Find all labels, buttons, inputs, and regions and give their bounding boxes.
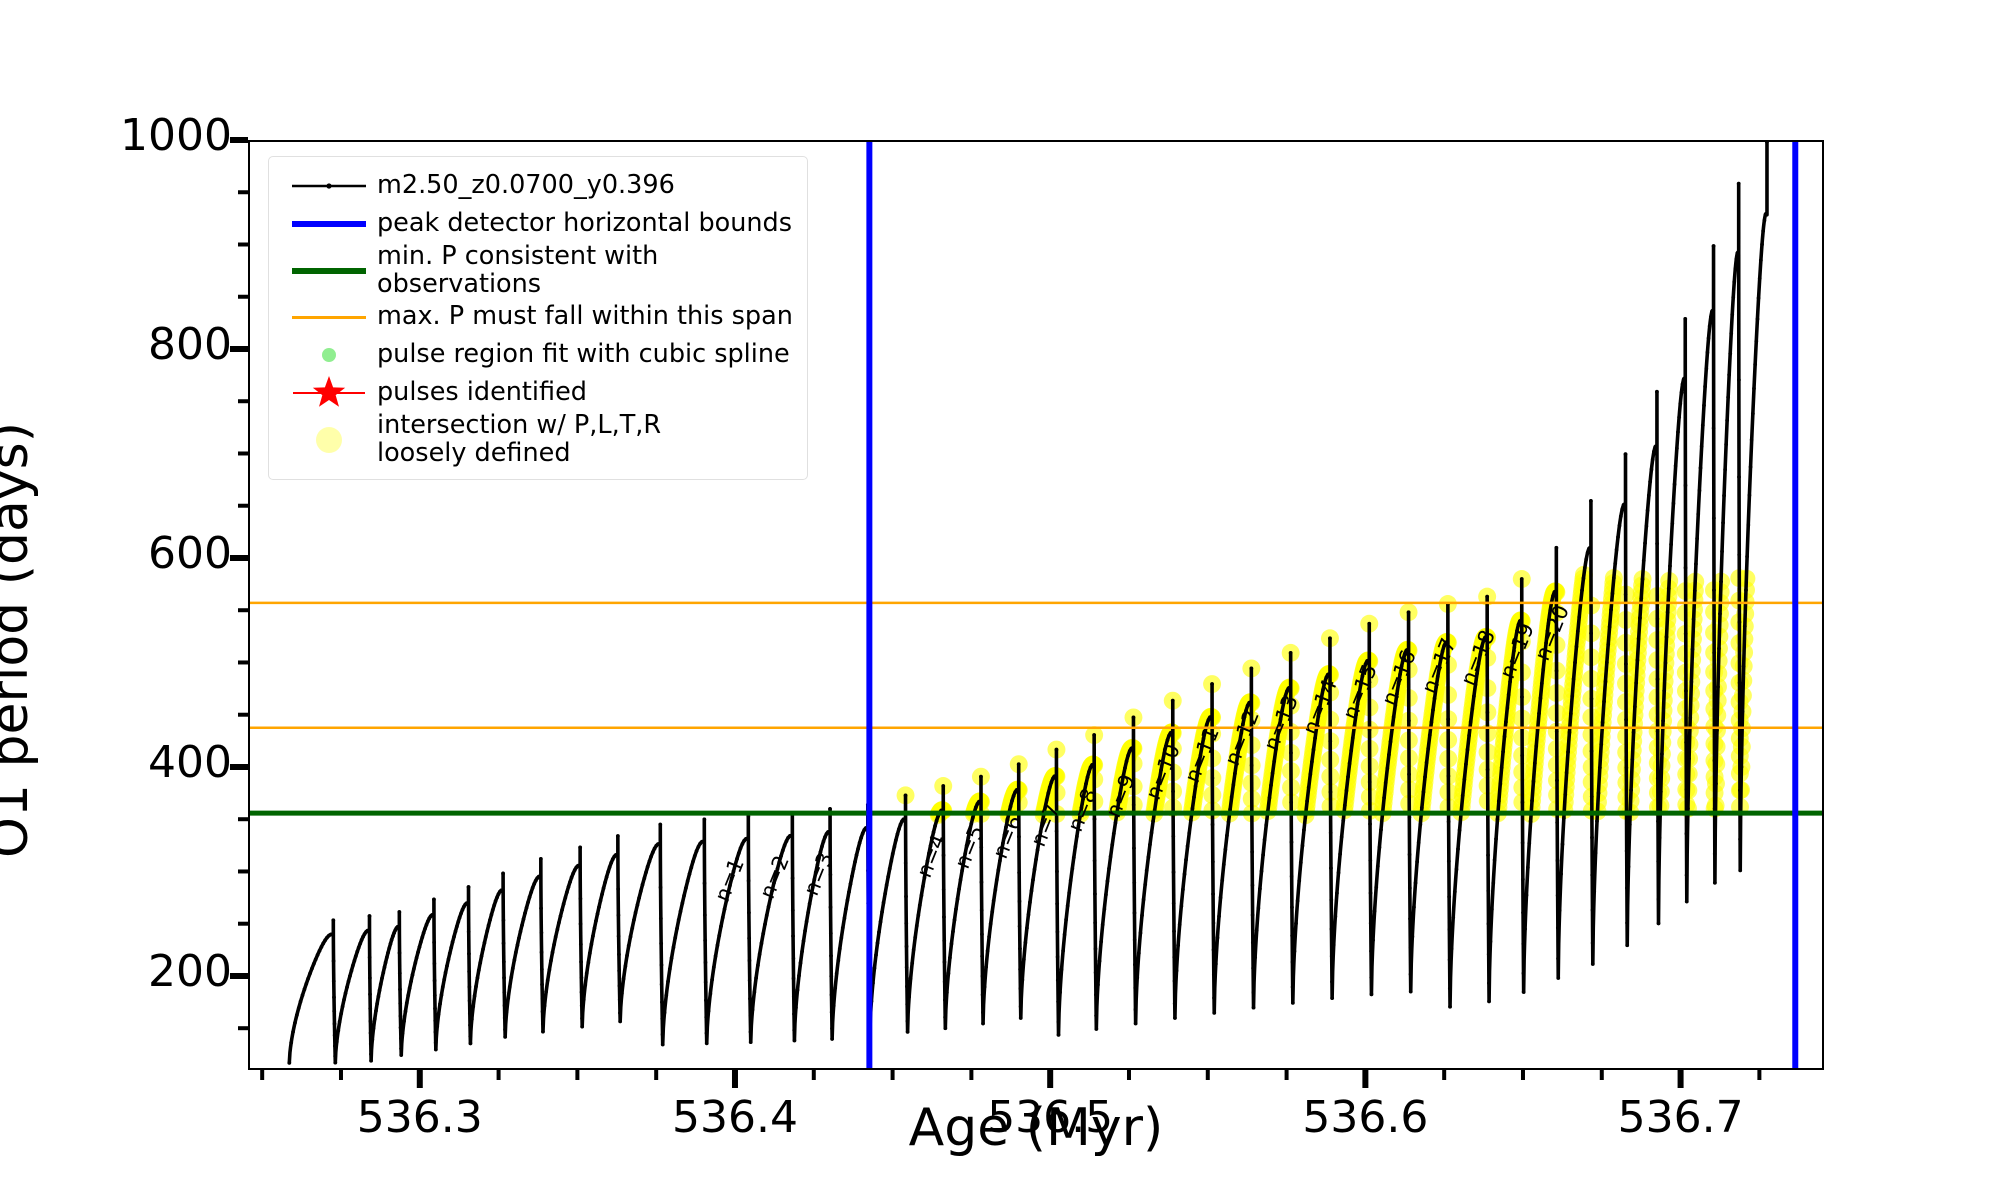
model-point bbox=[1487, 922, 1491, 926]
model-point bbox=[1060, 968, 1064, 972]
model-point bbox=[1589, 631, 1593, 635]
model-point bbox=[1073, 845, 1077, 849]
model-point bbox=[1723, 468, 1727, 472]
model-point bbox=[471, 1004, 475, 1008]
model-point bbox=[1143, 883, 1147, 887]
model-point bbox=[1530, 799, 1534, 803]
model-point bbox=[1134, 1022, 1138, 1026]
model-point bbox=[1726, 395, 1730, 399]
model-point bbox=[1634, 681, 1638, 685]
model-point bbox=[942, 915, 946, 919]
model-point bbox=[1310, 760, 1314, 764]
model-point bbox=[1521, 841, 1525, 845]
model-point bbox=[301, 993, 305, 997]
model-point bbox=[1131, 746, 1135, 750]
model-point bbox=[1101, 923, 1105, 927]
model-point bbox=[1656, 860, 1660, 864]
model-point bbox=[758, 952, 762, 956]
model-point bbox=[1657, 922, 1661, 926]
model-point bbox=[529, 890, 533, 894]
model-point bbox=[792, 995, 796, 999]
model-point bbox=[1017, 871, 1021, 875]
model-point bbox=[617, 952, 621, 956]
model-point bbox=[1727, 373, 1731, 377]
model-point bbox=[905, 965, 909, 969]
model-point bbox=[984, 965, 988, 969]
model-point bbox=[492, 903, 496, 907]
model-point bbox=[1125, 759, 1129, 763]
model-point bbox=[1426, 747, 1430, 751]
model-point bbox=[494, 899, 498, 903]
model-point bbox=[853, 860, 857, 864]
model-point bbox=[1736, 251, 1740, 255]
model-point bbox=[1056, 1020, 1060, 1024]
model-point bbox=[1341, 819, 1345, 823]
legend-line-swatch-icon bbox=[281, 206, 377, 242]
model-point bbox=[919, 894, 923, 898]
model-point bbox=[880, 910, 884, 914]
model-point bbox=[830, 1010, 834, 1014]
model-point bbox=[845, 899, 849, 903]
model-point bbox=[953, 918, 957, 922]
model-point bbox=[986, 949, 990, 953]
model-point bbox=[1133, 963, 1137, 967]
model-point bbox=[1665, 635, 1669, 639]
model-point bbox=[580, 1004, 584, 1008]
model-point bbox=[1092, 733, 1096, 737]
model-point bbox=[432, 962, 436, 966]
model-point bbox=[1289, 651, 1293, 655]
model-point bbox=[318, 949, 322, 953]
model-point bbox=[829, 905, 833, 909]
model-point bbox=[1485, 710, 1489, 714]
model-point bbox=[632, 918, 636, 922]
model-point bbox=[906, 1019, 910, 1023]
model-point bbox=[1486, 768, 1490, 772]
y-tick-label: 200 bbox=[52, 946, 232, 997]
model-point bbox=[835, 971, 839, 975]
model-point bbox=[1031, 878, 1035, 882]
model-point bbox=[1057, 1033, 1061, 1037]
model-point bbox=[658, 842, 662, 846]
model-point bbox=[531, 886, 535, 890]
model-point bbox=[378, 988, 382, 992]
model-point bbox=[555, 928, 559, 932]
model-point bbox=[1670, 522, 1674, 526]
model-point bbox=[1067, 891, 1071, 895]
legend-line-marker-swatch-icon bbox=[281, 168, 377, 204]
model-point bbox=[1656, 677, 1660, 681]
model-point bbox=[630, 926, 634, 930]
model-point bbox=[1773, 101, 1777, 105]
model-point bbox=[1522, 990, 1526, 994]
model-point bbox=[1699, 466, 1703, 470]
x-tick-label: 536.4 bbox=[625, 1092, 845, 1143]
model-point bbox=[1684, 566, 1688, 570]
model-point bbox=[996, 868, 1000, 872]
model-point bbox=[617, 934, 621, 938]
model-point bbox=[541, 1030, 545, 1034]
model-point bbox=[412, 967, 416, 971]
model-point bbox=[1027, 913, 1031, 917]
model-point bbox=[903, 817, 907, 821]
model-point bbox=[1472, 694, 1476, 698]
model-point bbox=[560, 908, 564, 912]
legend-item: intersection w/ P,L,T,R loosely defined bbox=[281, 412, 795, 467]
model-point bbox=[1181, 888, 1185, 892]
model-point bbox=[629, 935, 633, 939]
model-point bbox=[468, 999, 472, 1003]
model-point bbox=[1186, 844, 1190, 848]
model-point bbox=[331, 918, 335, 922]
model-point bbox=[1520, 754, 1524, 758]
model-point bbox=[1022, 958, 1026, 962]
model-point bbox=[459, 911, 463, 915]
model-point bbox=[703, 938, 707, 942]
model-point bbox=[981, 1022, 985, 1026]
model-point bbox=[1370, 992, 1374, 996]
model-point bbox=[401, 1031, 405, 1035]
model-point bbox=[702, 840, 706, 844]
model-point bbox=[1171, 699, 1175, 703]
model-point bbox=[1624, 452, 1628, 456]
model-point bbox=[567, 885, 571, 889]
model-point bbox=[1602, 700, 1606, 704]
model-point bbox=[799, 961, 803, 965]
model-point bbox=[823, 835, 827, 839]
model-point bbox=[1264, 823, 1268, 827]
legend-item: max. P must fall within this span bbox=[281, 298, 795, 336]
model-point bbox=[578, 864, 582, 868]
model-point bbox=[1251, 990, 1255, 994]
legend-item: pulses identified bbox=[281, 374, 795, 412]
model-point bbox=[1064, 918, 1068, 922]
model-point bbox=[1744, 588, 1748, 592]
model-point bbox=[1590, 749, 1594, 753]
model-point bbox=[618, 1020, 622, 1024]
model-point bbox=[1126, 753, 1130, 757]
model-point bbox=[1500, 766, 1504, 770]
model-point bbox=[1507, 693, 1511, 697]
model-point bbox=[1503, 735, 1507, 739]
model-point bbox=[1148, 843, 1152, 847]
model-point bbox=[523, 911, 527, 915]
y-tick-label: 600 bbox=[52, 528, 232, 579]
model-point bbox=[1504, 720, 1508, 724]
model-point bbox=[1540, 682, 1544, 686]
model-point bbox=[514, 951, 518, 955]
model-point bbox=[1110, 843, 1114, 847]
model-point bbox=[830, 1037, 834, 1041]
model-point bbox=[1684, 632, 1688, 636]
model-point bbox=[332, 995, 336, 999]
model-point bbox=[1662, 689, 1666, 693]
model-point bbox=[1335, 891, 1339, 895]
model-point bbox=[586, 961, 590, 965]
model-point bbox=[855, 853, 859, 857]
model-point bbox=[833, 986, 837, 990]
model-point bbox=[1146, 855, 1150, 859]
model-point bbox=[1671, 502, 1675, 506]
model-point bbox=[618, 998, 622, 1002]
model-point bbox=[398, 951, 402, 955]
model-point bbox=[1467, 734, 1471, 738]
model-point bbox=[1132, 881, 1136, 885]
model-point bbox=[1541, 667, 1545, 671]
model-point bbox=[1329, 898, 1333, 902]
model-point bbox=[794, 1006, 798, 1010]
model-point bbox=[1738, 681, 1742, 685]
model-point bbox=[1140, 913, 1144, 917]
model-point bbox=[1711, 309, 1715, 313]
model-point bbox=[1731, 295, 1735, 299]
model-point bbox=[467, 930, 471, 934]
model-point bbox=[1712, 426, 1716, 430]
model-point bbox=[1470, 707, 1474, 711]
model-point bbox=[1743, 624, 1747, 628]
model-point bbox=[639, 889, 643, 893]
model-point bbox=[350, 969, 354, 973]
model-point bbox=[748, 959, 752, 963]
model-point bbox=[904, 793, 908, 797]
model-point bbox=[943, 1026, 947, 1030]
model-point bbox=[1613, 561, 1617, 565]
model-point bbox=[830, 993, 834, 997]
model-point bbox=[943, 960, 947, 964]
model-point bbox=[1033, 867, 1037, 871]
model-point bbox=[1330, 996, 1334, 1000]
model-point bbox=[1228, 807, 1232, 811]
model-point bbox=[1458, 828, 1462, 832]
model-point bbox=[476, 976, 480, 980]
model-point bbox=[1171, 834, 1175, 838]
model-point bbox=[438, 1002, 442, 1006]
model-point bbox=[467, 952, 471, 956]
line-marker-swatch-icon bbox=[289, 176, 369, 196]
model-point bbox=[314, 957, 318, 961]
legend-item: peak detector horizontal bounds bbox=[281, 205, 795, 243]
model-point bbox=[693, 854, 697, 858]
model-point bbox=[1018, 899, 1022, 903]
model-point bbox=[1456, 847, 1460, 851]
model-point bbox=[956, 897, 960, 901]
model-point bbox=[519, 930, 523, 934]
model-point bbox=[1109, 855, 1113, 859]
line-swatch-icon bbox=[292, 221, 366, 227]
model-point bbox=[1330, 927, 1334, 931]
model-point bbox=[1694, 562, 1698, 566]
model-point bbox=[468, 1011, 472, 1015]
model-point bbox=[1722, 494, 1726, 498]
model-point bbox=[1225, 834, 1229, 838]
model-point bbox=[1172, 955, 1176, 959]
model-point bbox=[540, 997, 544, 1001]
model-point bbox=[1272, 759, 1276, 763]
model-point bbox=[474, 985, 478, 989]
model-point bbox=[539, 931, 543, 935]
model-point bbox=[935, 819, 939, 823]
model-point bbox=[1034, 857, 1038, 861]
model-point bbox=[1556, 859, 1560, 863]
model-point bbox=[1222, 863, 1226, 867]
model-point bbox=[1132, 803, 1136, 807]
model-point bbox=[1738, 737, 1742, 741]
model-point bbox=[1698, 489, 1702, 493]
model-point bbox=[563, 896, 567, 900]
model-point bbox=[478, 961, 482, 965]
model-point bbox=[979, 800, 983, 804]
model-point bbox=[615, 853, 619, 857]
model-point bbox=[1175, 969, 1179, 973]
model-point bbox=[672, 946, 676, 950]
model-point bbox=[791, 956, 795, 960]
model-point bbox=[1747, 493, 1751, 497]
model-point bbox=[541, 1022, 545, 1026]
model-point bbox=[381, 971, 385, 975]
model-point bbox=[1757, 296, 1761, 300]
model-point bbox=[1132, 846, 1136, 850]
model-point bbox=[1369, 949, 1373, 953]
model-point bbox=[1210, 682, 1214, 686]
model-point bbox=[477, 968, 481, 972]
model-point bbox=[525, 906, 529, 910]
model-point bbox=[704, 980, 708, 984]
model-point bbox=[646, 865, 650, 869]
model-point bbox=[449, 946, 453, 950]
model-point bbox=[829, 974, 833, 978]
model-point bbox=[1461, 794, 1465, 798]
model-point bbox=[1096, 983, 1100, 987]
model-point bbox=[544, 990, 548, 994]
model-point bbox=[1328, 739, 1332, 743]
model-point bbox=[909, 976, 913, 980]
model-point bbox=[1030, 889, 1034, 893]
model-point bbox=[658, 823, 662, 827]
model-point bbox=[1746, 523, 1750, 527]
model-point bbox=[1133, 911, 1137, 915]
model-point bbox=[899, 823, 903, 827]
model-point bbox=[454, 929, 458, 933]
model-point bbox=[579, 976, 583, 980]
model-point bbox=[1487, 952, 1491, 956]
model-point bbox=[562, 902, 566, 906]
model-point bbox=[1589, 546, 1593, 550]
model-point bbox=[1522, 971, 1526, 975]
model-point bbox=[1407, 772, 1411, 776]
y-tick-label: 400 bbox=[52, 737, 232, 788]
model-point bbox=[1255, 928, 1259, 932]
model-point bbox=[1106, 879, 1110, 883]
model-point bbox=[565, 890, 569, 894]
model-point bbox=[634, 910, 638, 914]
model-point bbox=[1184, 858, 1188, 862]
model-point bbox=[599, 899, 603, 903]
model-point bbox=[983, 985, 987, 989]
model-point bbox=[1252, 1006, 1256, 1010]
model-point bbox=[434, 1048, 438, 1052]
legend-line-swatch-icon bbox=[281, 253, 377, 289]
model-point bbox=[1738, 788, 1742, 792]
model-point bbox=[943, 998, 947, 1002]
model-point bbox=[1133, 986, 1137, 990]
model-point bbox=[1172, 929, 1176, 933]
model-point bbox=[684, 886, 688, 890]
model-point bbox=[398, 971, 402, 975]
model-point bbox=[433, 1019, 437, 1023]
star-glyph bbox=[313, 376, 345, 407]
model-point bbox=[579, 922, 583, 926]
model-point bbox=[1171, 790, 1175, 794]
model-point bbox=[703, 913, 707, 917]
model-point bbox=[749, 1030, 753, 1034]
model-point bbox=[838, 947, 842, 951]
model-point bbox=[1604, 680, 1608, 684]
model-point bbox=[980, 880, 984, 884]
model-point bbox=[1025, 926, 1029, 930]
model-point bbox=[1466, 748, 1470, 752]
model-point bbox=[1708, 324, 1712, 328]
model-point bbox=[708, 992, 712, 996]
model-point bbox=[761, 932, 765, 936]
model-point bbox=[647, 860, 651, 864]
model-point bbox=[616, 887, 620, 891]
model-point bbox=[987, 935, 991, 939]
model-point bbox=[1712, 651, 1716, 655]
model-point bbox=[1521, 911, 1525, 915]
model-point bbox=[1756, 317, 1760, 321]
model-point bbox=[971, 816, 975, 820]
model-point bbox=[1713, 807, 1717, 811]
model-point bbox=[1448, 958, 1452, 962]
model-point bbox=[583, 983, 587, 987]
model-point bbox=[828, 807, 832, 811]
model-point bbox=[1712, 516, 1716, 520]
model-point bbox=[1584, 557, 1588, 561]
model-point bbox=[316, 953, 320, 957]
model-point bbox=[367, 929, 371, 933]
model-point bbox=[623, 964, 627, 968]
model-point bbox=[1508, 680, 1512, 684]
model-point bbox=[1592, 890, 1596, 894]
model-point bbox=[874, 953, 878, 957]
legend-item-label: intersection w/ P,L,T,R loosely defined bbox=[377, 412, 661, 467]
model-point bbox=[1594, 851, 1598, 855]
model-point bbox=[1289, 800, 1293, 804]
model-point bbox=[1423, 775, 1427, 779]
model-point bbox=[297, 1006, 301, 1010]
model-point bbox=[1374, 885, 1378, 889]
model-point bbox=[466, 901, 470, 905]
model-point bbox=[511, 966, 515, 970]
model-point bbox=[904, 861, 908, 865]
model-point bbox=[502, 990, 506, 994]
model-point bbox=[1133, 938, 1137, 942]
model-point bbox=[1337, 871, 1341, 875]
model-point bbox=[1340, 835, 1344, 839]
model-point bbox=[1605, 661, 1609, 665]
model-point bbox=[1601, 720, 1605, 724]
model-point bbox=[1453, 890, 1457, 894]
model-point bbox=[1583, 566, 1587, 570]
model-point bbox=[413, 961, 417, 965]
model-point bbox=[1684, 689, 1688, 693]
model-point bbox=[1520, 577, 1524, 581]
model-point bbox=[1446, 717, 1450, 721]
model-point bbox=[691, 860, 695, 864]
model-point bbox=[1260, 869, 1264, 873]
model-point bbox=[673, 936, 677, 940]
model-point bbox=[1382, 796, 1386, 800]
